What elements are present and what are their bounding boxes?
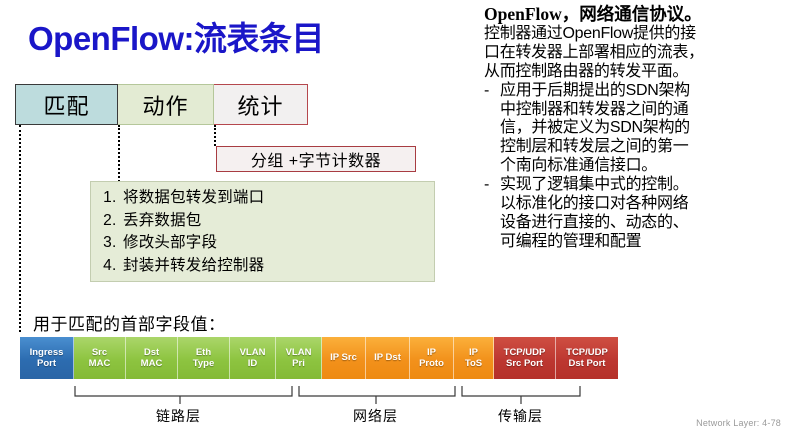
header-field-cell: IPToS	[454, 337, 494, 379]
header-field-label-line1: TCP/UDP	[566, 347, 608, 358]
header-field-label-line2: MAC	[89, 358, 111, 369]
header-field-cell: IPProto	[410, 337, 454, 379]
bullet-line: 以标准化的接口对各种网络	[500, 195, 688, 212]
header-field-label-line2: MAC	[141, 358, 163, 369]
header-field-label-line1: IP Dst	[374, 352, 401, 363]
header-field-label-line2: ToS	[465, 358, 482, 369]
list-item: 封装并转发给控制器	[121, 255, 434, 278]
actions-list-box: 将数据包转发到端口 丢弃数据包 修改头部字段 封装并转发给控制器	[90, 181, 435, 282]
connector-dotted-line-stats	[214, 125, 216, 146]
header-fields-caption: 用于匹配的首部字段值：	[33, 310, 226, 335]
header-field-label-line1: VLAN	[240, 347, 266, 358]
header-field-label-line1: IP	[427, 347, 436, 358]
header-field-label-line1: IP Src	[330, 352, 357, 363]
bullet-line: 中控制器和转发器之间的通	[500, 101, 688, 118]
actions-ordered-list: 将数据包转发到端口 丢弃数据包 修改头部字段 封装并转发给控制器	[91, 187, 434, 278]
header-field-label-line2: Type	[193, 358, 214, 369]
statistics-counter-box: 分组 +字节计数器	[216, 146, 416, 172]
header-field-label-line1: Dst	[144, 347, 159, 358]
header-field-label-line1: Ingress	[30, 347, 64, 358]
header-field-label-line2: ID	[248, 358, 258, 369]
header-field-cell: IP Src	[322, 337, 366, 379]
header-field-cell: EthType	[178, 337, 230, 379]
connector-dotted-line-match	[19, 125, 21, 332]
header-field-label-line1: IP	[469, 347, 478, 358]
header-field-label-line2: Proto	[419, 358, 444, 369]
header-field-label-line2: Dst Port	[569, 358, 606, 369]
bullet-line: 个南向标准通信接口。	[500, 157, 657, 174]
bracket-transport-layer	[462, 386, 580, 404]
header-field-cell: SrcMAC	[74, 337, 126, 379]
description-bullet-item: - 应用于后期提出的SDN架构 中控制器和转发器之间的通 信，并被定义为SDN架…	[484, 82, 784, 176]
flow-entry-stats-cell: 统计	[214, 84, 308, 125]
page-title: OpenFlow:流表条目	[28, 12, 324, 60]
bullet-line: 控制层和转发层之间的第一	[500, 138, 688, 155]
header-field-label-line2: Pri	[292, 358, 305, 369]
bullet-line: 可编程的管理和配置	[500, 233, 641, 250]
header-field-cell: VLANPri	[276, 337, 322, 379]
bullet-line: 信，并被定义为SDN架构的	[500, 119, 690, 136]
header-field-label-line2: Src Port	[506, 358, 543, 369]
header-field-cell: TCP/UDPSrc Port	[494, 337, 556, 379]
flow-entry-header: 匹配 动作 统计	[15, 84, 308, 125]
list-item: 将数据包转发到端口	[121, 187, 434, 210]
bullet-line: 实现了逻辑集中式的控制。	[500, 176, 688, 193]
header-field-cell: IP Dst	[366, 337, 410, 379]
slide-canvas: OpenFlow:流表条目 OpenFlow，网络通信协议。 控制器通过Open…	[0, 0, 789, 434]
description-bullet-list: - 应用于后期提出的SDN架构 中控制器和转发器之间的通 信，并被定义为SDN架…	[484, 82, 784, 252]
description-bullet-item: - 实现了逻辑集中式的控制。 以标准化的接口对各种网络 设备进行直接的、动态的、…	[484, 176, 784, 252]
list-item: 修改头部字段	[121, 232, 434, 255]
header-field-cell: DstMAC	[126, 337, 178, 379]
bullet-line: 应用于后期提出的SDN架构	[500, 82, 690, 99]
header-field-label-line2: Port	[37, 358, 56, 369]
header-fields-strip: IngressPortSrcMACDstMACEthTypeVLANIDVLAN…	[20, 337, 618, 379]
header-field-label-line1: TCP/UDP	[504, 347, 546, 358]
bracket-label-network-layer: 网络层	[353, 406, 398, 426]
header-field-cell: VLANID	[230, 337, 276, 379]
flow-entry-match-cell: 匹配	[15, 84, 118, 125]
flow-entry-action-cell: 动作	[118, 84, 214, 125]
protocol-layer-brackets: 链路层 网络层 传输层	[0, 382, 789, 434]
header-field-label-line1: Src	[92, 347, 107, 358]
header-field-cell: IngressPort	[20, 337, 74, 379]
description-paragraph-line: 控制器通过OpenFlow提供的接	[484, 25, 784, 44]
description-paragraph-line: 从而控制路由器的转发平面。	[484, 63, 784, 82]
description-paragraph: 控制器通过OpenFlow提供的接 口在转发器上部署相应的流表， 从而控制路由器…	[484, 25, 784, 82]
bracket-label-link-layer: 链路层	[156, 406, 201, 426]
description-heading: OpenFlow，网络通信协议。	[484, 4, 784, 25]
bracket-link-layer	[75, 386, 292, 404]
slide-footer: Network Layer: 4-78	[696, 418, 781, 428]
header-field-label-line1: Eth	[196, 347, 211, 358]
list-item: 丢弃数据包	[121, 210, 434, 233]
connector-dotted-line-action	[118, 125, 120, 182]
bullet-dash-marker: -	[484, 176, 489, 195]
description-panel: OpenFlow，网络通信协议。 控制器通过OpenFlow提供的接 口在转发器…	[484, 4, 784, 252]
bracket-network-layer	[299, 386, 455, 404]
header-field-label-line1: VLAN	[286, 347, 312, 358]
bracket-label-transport-layer: 传输层	[498, 406, 543, 426]
description-paragraph-line: 口在转发器上部署相应的流表，	[484, 44, 784, 63]
bullet-line: 设备进行直接的、动态的、	[500, 214, 688, 231]
header-field-cell: TCP/UDPDst Port	[556, 337, 618, 379]
bullet-dash-marker: -	[484, 82, 489, 101]
